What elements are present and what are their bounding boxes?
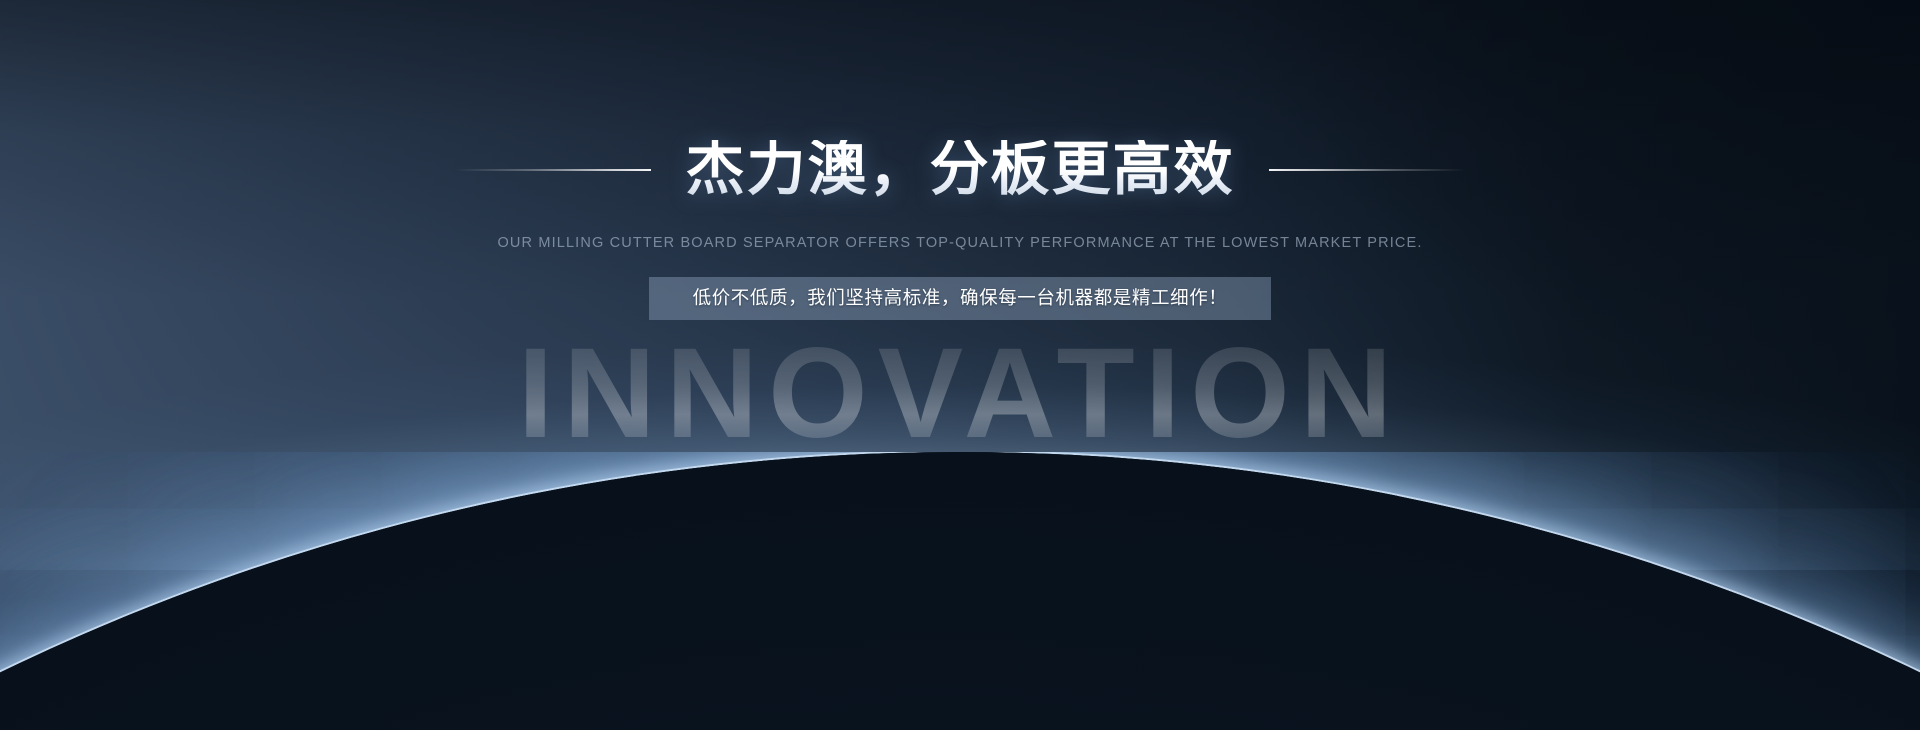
subtitle-english: OUR MILLING CUTTER BOARD SEPARATOR OFFER… xyxy=(0,235,1920,251)
watermark-text: INNOVATION xyxy=(0,330,1920,458)
page-title: 杰力澳，分板更高效 xyxy=(685,140,1234,199)
highlight-tagline-bar: 低价不低质，我们坚持高标准，确保每一台机器都是精工细作！ xyxy=(649,277,1272,320)
title-rule-right-icon xyxy=(1269,169,1465,171)
earth-atmosphere-rim xyxy=(0,452,1920,730)
banner-content: 杰力澳，分板更高效 OUR MILLING CUTTER BOARD SEPAR… xyxy=(0,0,1920,320)
title-row: 杰力澳，分板更高效 xyxy=(0,140,1920,199)
earth-graphic xyxy=(0,452,1920,730)
hero-banner: INNOVATION 杰力澳，分板更高效 OUR MILLING CUTTER … xyxy=(0,0,1920,730)
title-rule-left-icon xyxy=(455,169,651,171)
